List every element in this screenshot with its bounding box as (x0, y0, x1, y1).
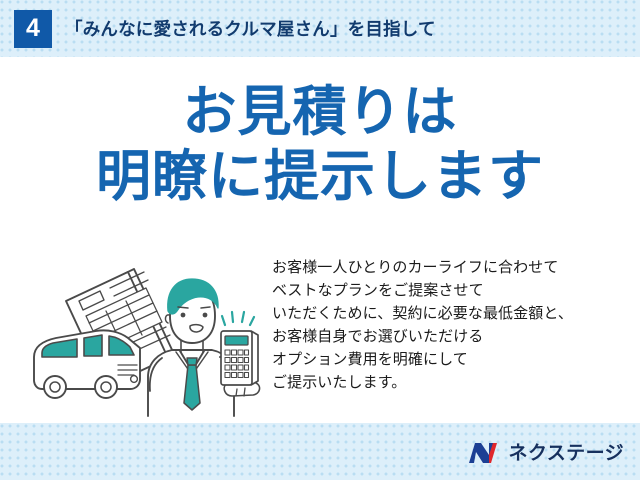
body-line-5: オプション費用を明確にして (272, 348, 632, 371)
header-title: 「みんなに愛されるクルマ屋さん」を目指して (65, 16, 436, 41)
body-line-1: お客様一人ひとりのカーライフに合わせて (272, 256, 632, 279)
headline: お見積りは 明瞭に提示します (0, 83, 640, 207)
body-copy: お客様一人ひとりのカーライフに合わせて ベストなプランをご提案させて いただくた… (272, 256, 632, 394)
nextage-n-icon (468, 441, 502, 465)
headline-line-2: 明瞭に提示します (0, 147, 640, 206)
header-bar: 4 「みんなに愛されるクルマ屋さん」を目指して (0, 0, 640, 57)
headline-line-1: お見積りは (0, 83, 640, 141)
brand-logo: ネクステージ (468, 440, 624, 466)
promo-page: 4 「みんなに愛されるクルマ屋さん」を目指して お見積りは 明瞭に提示します お… (0, 0, 640, 480)
salesperson-illustration (22, 253, 272, 418)
section-number-badge: 4 (14, 10, 52, 48)
body-line-3: いただくために、契約に必要な最低金額と、 (272, 302, 632, 325)
body-line-6: ご提示いたします。 (272, 371, 632, 394)
content-panel: お見積りは 明瞭に提示します お客様一人ひとりのカーライフに合わせて ベストなプ… (0, 57, 640, 423)
body-line-2: ベストなプランをご提案させて (272, 279, 632, 302)
brand-name: ネクステージ (509, 444, 624, 463)
body-line-4: お客様自身でお選びいただける (272, 325, 632, 348)
illustration-svg (22, 253, 272, 418)
sparkle-icon (222, 312, 254, 325)
